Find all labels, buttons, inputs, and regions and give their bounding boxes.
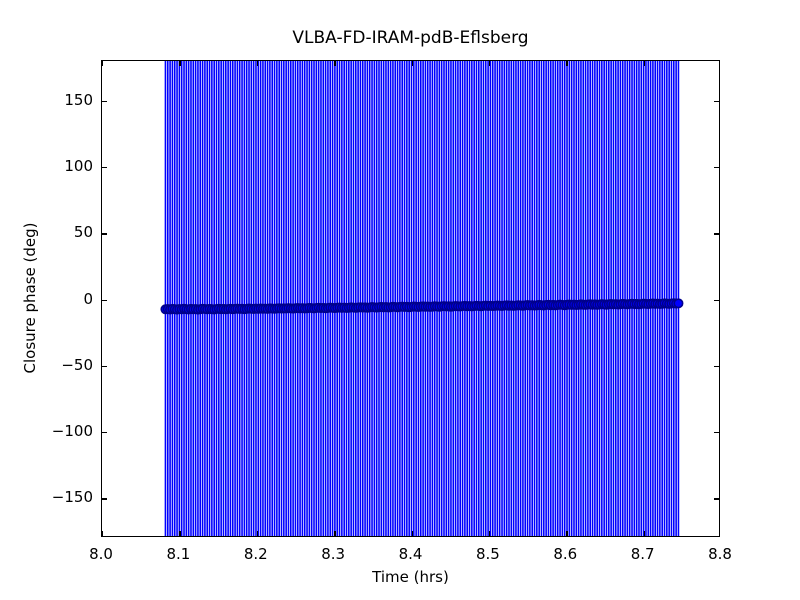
x-tick-mark bbox=[334, 61, 335, 66]
y-tick-mark bbox=[102, 498, 107, 499]
y-tick-label: 50 bbox=[74, 223, 93, 241]
x-tick-mark bbox=[179, 61, 180, 66]
x-tick-label: 8.7 bbox=[631, 545, 655, 563]
x-tick-label: 8.0 bbox=[89, 545, 113, 563]
y-tick-mark bbox=[714, 233, 719, 234]
y-tick-mark bbox=[714, 101, 719, 102]
y-tick-mark bbox=[714, 366, 719, 367]
x-tick-label: 8.4 bbox=[399, 545, 423, 563]
y-tick-label: −150 bbox=[52, 488, 93, 506]
plot-area bbox=[101, 60, 720, 537]
errorbar-series bbox=[165, 61, 678, 537]
x-tick-mark bbox=[102, 61, 103, 66]
y-tick-mark bbox=[102, 432, 107, 433]
x-tick-mark bbox=[489, 61, 490, 66]
y-tick-mark bbox=[714, 498, 719, 499]
x-tick-mark bbox=[566, 531, 567, 536]
x-tick-mark bbox=[334, 531, 335, 536]
y-axis-tick-labels: 150100500−50−100−150 bbox=[31, 60, 93, 537]
y-tick-label: 0 bbox=[83, 290, 93, 308]
x-tick-label: 8.3 bbox=[321, 545, 345, 563]
x-tick-label: 8.5 bbox=[476, 545, 500, 563]
y-tick-label: −50 bbox=[61, 356, 93, 374]
figure-canvas: VLBA-FD-IRAM-pdB-Eflsberg 150100500−50−1… bbox=[0, 0, 800, 600]
x-tick-mark bbox=[644, 531, 645, 536]
x-tick-label: 8.1 bbox=[166, 545, 190, 563]
y-axis-label: Closure phase (deg) bbox=[21, 168, 39, 428]
data-point-marker bbox=[674, 299, 682, 307]
y-tick-label: −100 bbox=[52, 422, 93, 440]
y-tick-label: 100 bbox=[64, 157, 93, 175]
y-tick-mark bbox=[102, 233, 107, 234]
x-tick-mark bbox=[257, 531, 258, 536]
y-tick-mark bbox=[102, 167, 107, 168]
chart-title: VLBA-FD-IRAM-pdB-Eflsberg bbox=[101, 28, 720, 48]
x-tick-mark bbox=[412, 61, 413, 66]
x-tick-label: 8.6 bbox=[553, 545, 577, 563]
x-tick-mark bbox=[489, 531, 490, 536]
x-axis-tick-labels: 8.08.18.28.38.48.58.68.78.8 bbox=[101, 545, 720, 567]
y-tick-mark bbox=[102, 366, 107, 367]
y-tick-mark bbox=[714, 432, 719, 433]
x-axis-label: Time (hrs) bbox=[101, 568, 720, 586]
x-tick-mark bbox=[257, 61, 258, 66]
x-tick-mark bbox=[644, 61, 645, 66]
x-tick-mark bbox=[102, 531, 103, 536]
y-tick-label: 150 bbox=[64, 91, 93, 109]
y-tick-mark bbox=[102, 300, 107, 301]
x-tick-mark bbox=[412, 531, 413, 536]
plot-svg bbox=[102, 61, 720, 537]
y-tick-mark bbox=[102, 101, 107, 102]
x-tick-label: 8.8 bbox=[708, 545, 732, 563]
x-tick-mark bbox=[179, 531, 180, 536]
y-tick-mark bbox=[714, 300, 719, 301]
x-tick-mark bbox=[566, 61, 567, 66]
x-tick-label: 8.2 bbox=[244, 545, 268, 563]
y-tick-mark bbox=[714, 167, 719, 168]
